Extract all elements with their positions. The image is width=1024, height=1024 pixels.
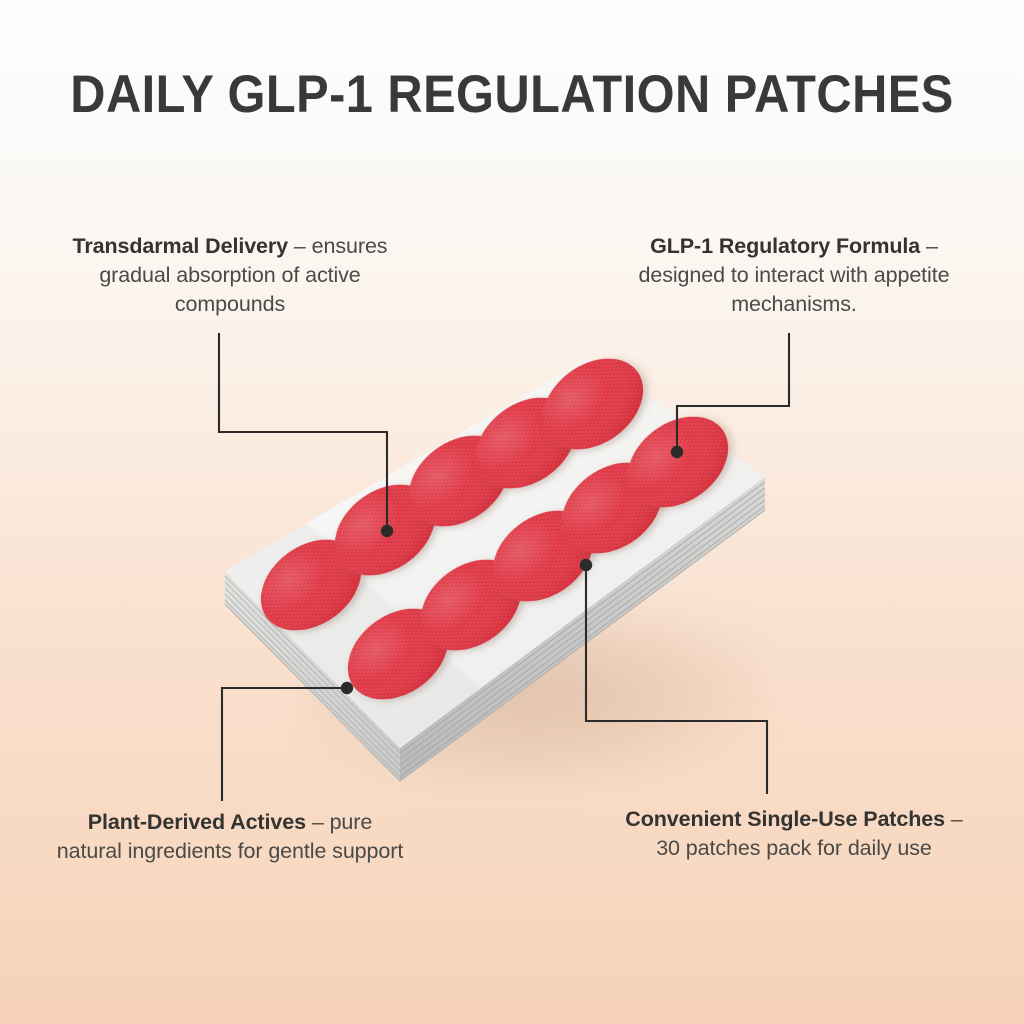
callout-body: 30 patches pack for daily use: [656, 836, 932, 860]
callout-transdermal-delivery: Transdarmal Delivery – ensures gradual a…: [56, 232, 404, 319]
callout-dash: –: [920, 234, 938, 258]
callout-lead: Transdarmal Delivery: [73, 234, 289, 258]
callout-convenient-single-use-patches: Convenient Single-Use Patches – 30 patch…: [618, 805, 970, 863]
product-scene: [0, 0, 1024, 1024]
callout-lead: Convenient Single-Use Patches: [625, 807, 945, 831]
callout-dash: –: [288, 234, 312, 258]
callout-dash: –: [306, 810, 330, 834]
callout-lead: Plant-Derived Actives: [88, 810, 306, 834]
callout-dash: –: [945, 807, 963, 831]
callout-body: designed to interact with appetite mecha…: [639, 263, 950, 316]
patch-sheet-illustration: [0, 0, 1024, 1024]
callout-lead: GLP-1 Regulatory Formula: [650, 234, 920, 258]
callout-plant-derived-actives: Plant-Derived Actives – pure natural ing…: [56, 808, 404, 866]
infographic-poster: DAILY GLP-1 REGULATION PATCHES: [0, 0, 1024, 1024]
callout-glp1-regulatory-formula: GLP-1 Regulatory Formula – designed to i…: [620, 232, 968, 319]
